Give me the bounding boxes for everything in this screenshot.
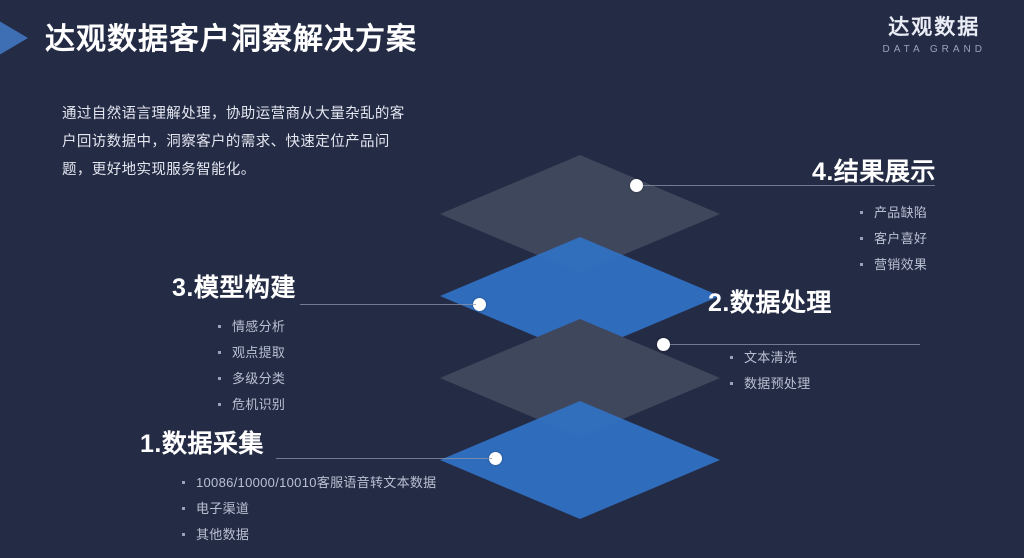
list-item: 产品缺陷 bbox=[860, 200, 936, 226]
step-4-title: 4.结果展示 bbox=[812, 152, 936, 188]
list-item: 数据预处理 bbox=[730, 371, 832, 397]
list-item: 文本清洗 bbox=[730, 345, 832, 371]
slide-root: 达观数据客户洞察解决方案 达观数据 DATA GRAND 通过自然语言理解处理，… bbox=[0, 0, 1024, 558]
brand-logo: 达观数据 DATA GRAND bbox=[882, 16, 986, 55]
connector-line-step-3 bbox=[300, 304, 476, 305]
step-block-3: 3.模型构建 情感分析 观点提取 多级分类 危机识别 bbox=[172, 268, 296, 418]
list-item: 多级分类 bbox=[218, 366, 296, 392]
logo-en-text: DATA GRAND bbox=[882, 44, 986, 55]
step-1-title: 1.数据采集 bbox=[140, 424, 436, 460]
step-3-title: 3.模型构建 bbox=[172, 268, 296, 304]
list-item: 电子渠道 bbox=[182, 496, 436, 522]
list-item: 10086/10000/10010客服语音转文本数据 bbox=[182, 470, 436, 496]
step-block-1: 1.数据采集 10086/10000/10010客服语音转文本数据 电子渠道 其… bbox=[140, 424, 436, 548]
step-1-bullet-list: 10086/10000/10010客服语音转文本数据 电子渠道 其他数据 bbox=[182, 470, 436, 548]
list-item: 情感分析 bbox=[218, 314, 296, 340]
diamond-layer-1 bbox=[440, 401, 720, 519]
step-4-bullet-list: 产品缺陷 客户喜好 营销效果 bbox=[860, 200, 936, 278]
list-item: 客户喜好 bbox=[860, 226, 936, 252]
step-2-bullet-list: 文本清洗 数据预处理 bbox=[730, 345, 832, 397]
triangle-right-icon bbox=[0, 18, 28, 58]
page-title: 达观数据客户洞察解决方案 bbox=[45, 14, 417, 58]
list-item: 危机识别 bbox=[218, 392, 296, 418]
connector-dot-step-4 bbox=[630, 179, 643, 192]
step-block-4: 4.结果展示 产品缺陷 客户喜好 营销效果 bbox=[812, 152, 936, 278]
logo-cn-text: 达观数据 bbox=[882, 16, 986, 39]
intro-paragraph: 通过自然语言理解处理，协助运营商从大量杂乱的客户回访数据中，洞察客户的需求、快速… bbox=[62, 100, 414, 184]
list-item: 其他数据 bbox=[182, 522, 436, 548]
list-item: 观点提取 bbox=[218, 340, 296, 366]
step-3-bullet-list: 情感分析 观点提取 多级分类 危机识别 bbox=[218, 314, 296, 418]
connector-dot-step-2 bbox=[657, 338, 670, 351]
step-block-2: 2.数据处理 文本清洗 数据预处理 bbox=[708, 283, 832, 397]
list-item: 营销效果 bbox=[860, 252, 936, 278]
diamond-stack-diagram bbox=[440, 155, 720, 485]
step-2-title: 2.数据处理 bbox=[708, 283, 832, 319]
